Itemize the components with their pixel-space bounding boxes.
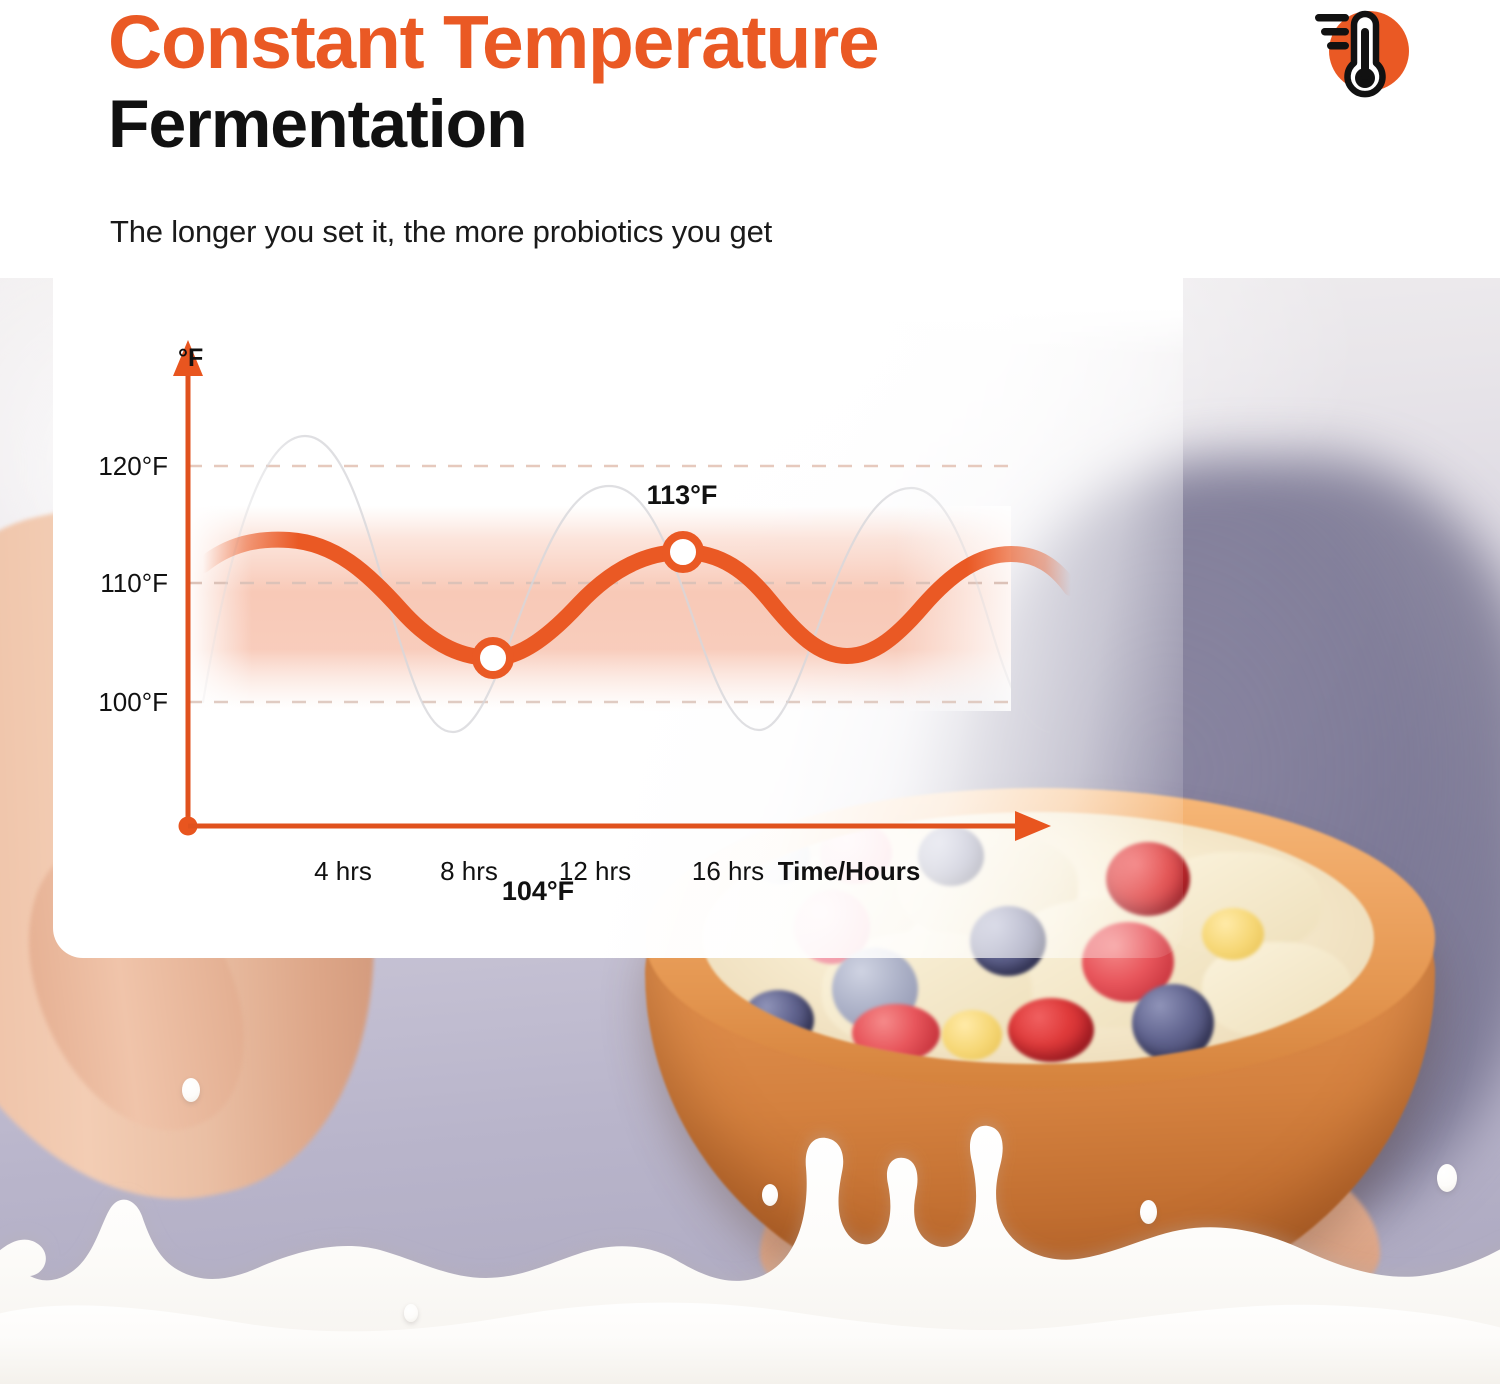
page-subtitle: The longer you set it, the more probioti… — [110, 214, 772, 250]
temperature-chart: °F 120°F 110°F 100°F 104°F 113°F 4 hrs 8… — [53, 236, 1183, 958]
photo-blueberry-6 — [742, 990, 814, 1050]
annotation-104f: 104°F — [458, 876, 618, 907]
photo-fruit-yellow-1 — [1202, 908, 1264, 960]
photo-blueberry-5 — [1132, 984, 1214, 1062]
y-axis-unit-label: °F — [178, 344, 203, 373]
photo-fruit-yellow-2 — [942, 1010, 1002, 1060]
x-axis-title: Time/Hours — [739, 856, 959, 887]
page-title-line-1: Constant Temperature — [108, 2, 879, 83]
photo-raspberry-4 — [852, 1004, 940, 1062]
product-infographic: °F 120°F 110°F 100°F 104°F 113°F 4 hrs 8… — [0, 0, 1500, 1384]
annotation-113f: 113°F — [602, 480, 762, 511]
y-tick-100: 100°F — [48, 687, 168, 718]
y-tick-110: 110°F — [48, 568, 168, 599]
photo-raspberry-3 — [1008, 998, 1094, 1062]
thermometer-icon — [1303, 4, 1413, 104]
page-title-line-2: Fermentation — [108, 88, 527, 161]
y-tick-120: 120°F — [48, 451, 168, 482]
header: Constant Temperature Fermentation The lo… — [0, 0, 1500, 280]
